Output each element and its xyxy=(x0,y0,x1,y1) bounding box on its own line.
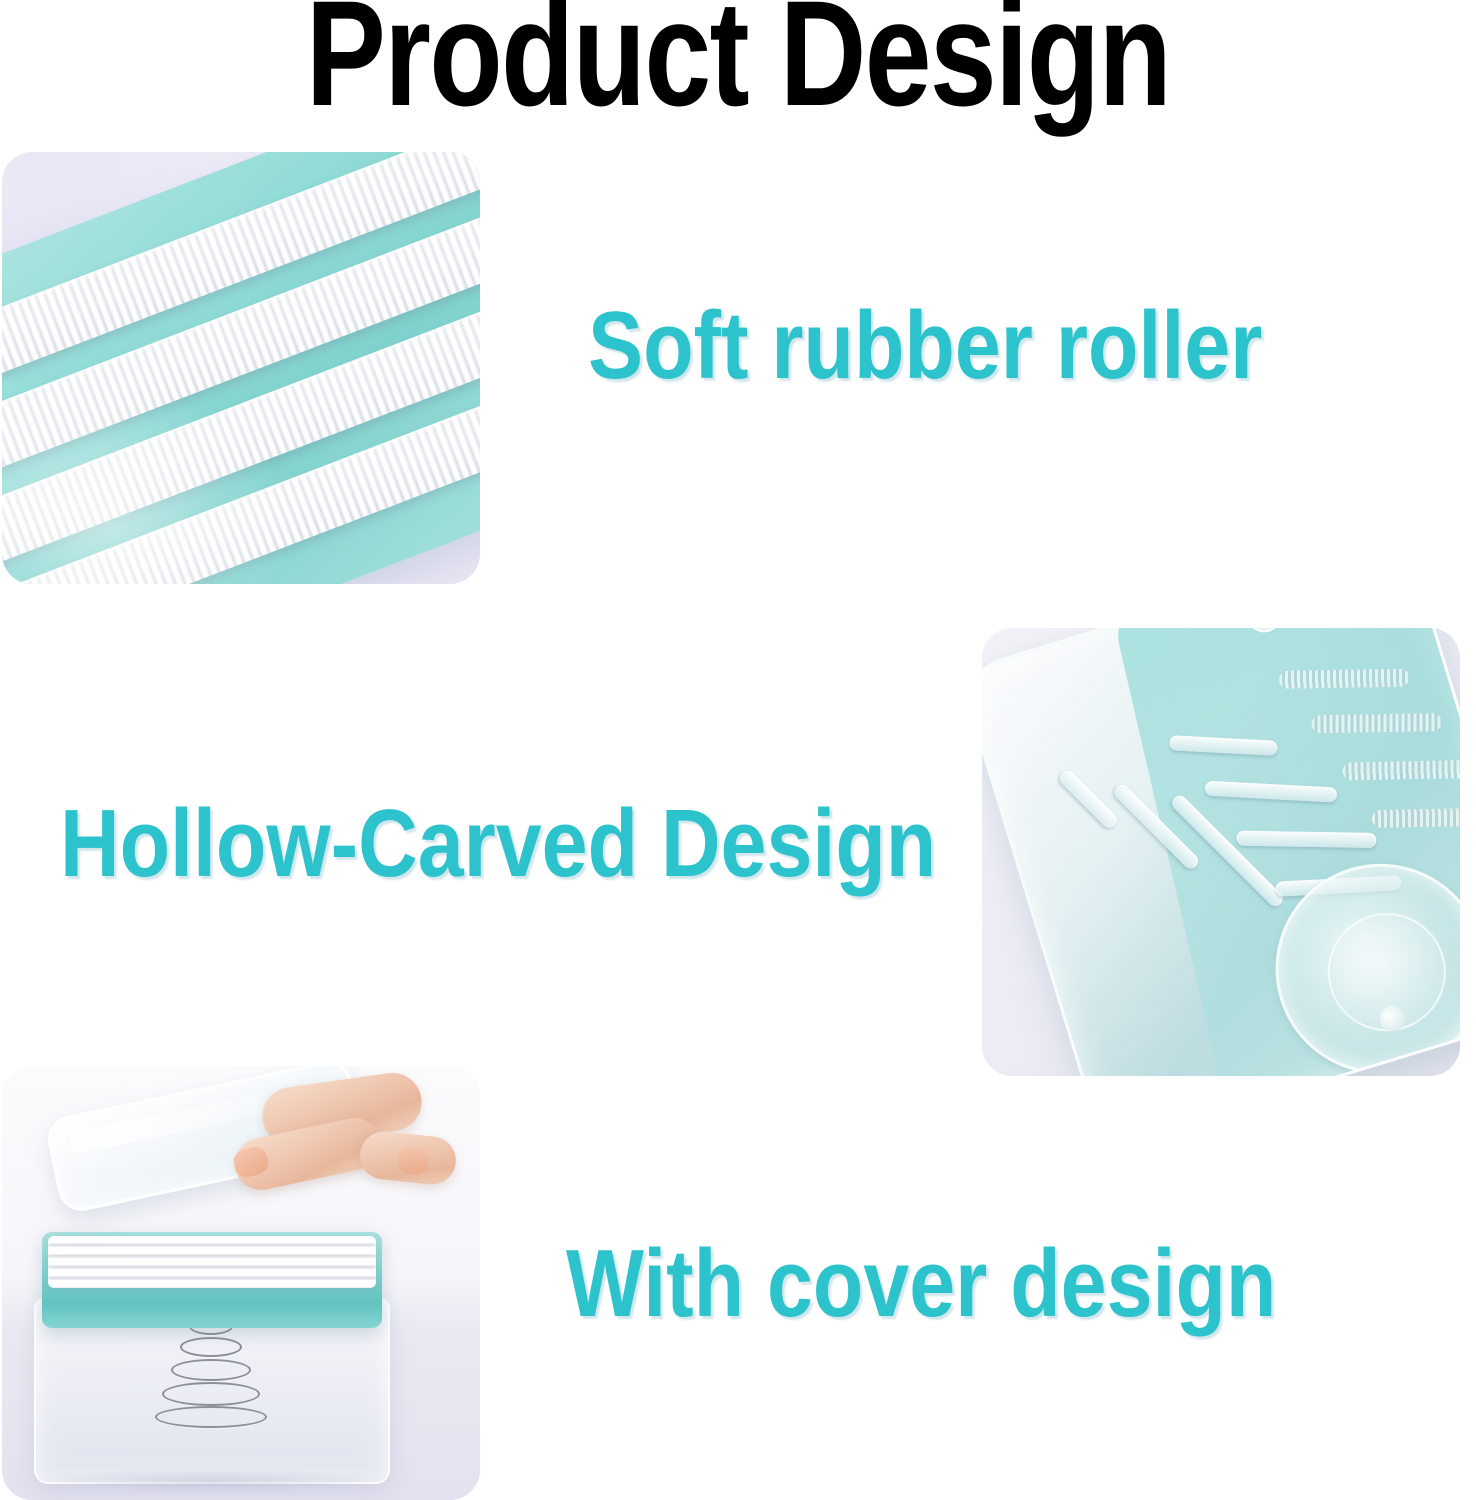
spring-coil xyxy=(180,1337,242,1357)
feature-photo-with-cover-design xyxy=(2,1066,480,1500)
product-design-infographic: Product Design Soft rubber roller Hollow… xyxy=(0,0,1476,1500)
feature-photo-soft-rubber-roller xyxy=(2,152,480,584)
carved-slot xyxy=(1236,831,1376,848)
metal-spring xyxy=(152,1318,270,1430)
spring-coil xyxy=(171,1359,251,1381)
ground-shadow xyxy=(32,1470,392,1492)
feature-caption-soft-rubber-roller: Soft rubber roller xyxy=(588,298,1262,394)
roller-through-lid xyxy=(1279,669,1409,689)
page-title: Product Design xyxy=(148,0,1329,128)
feature-caption-with-cover-design: With cover design xyxy=(566,1236,1276,1332)
feature-caption-hollow-carved-design: Hollow-Carved Design xyxy=(60,796,936,892)
roller-through-lid xyxy=(1311,713,1441,733)
spring-coil xyxy=(155,1406,267,1428)
roller-group xyxy=(2,152,480,584)
mint-roller-tray xyxy=(42,1232,382,1328)
feature-photo-hollow-carved-design xyxy=(982,628,1460,1076)
transparent-lid xyxy=(982,628,1460,1076)
hand xyxy=(210,1070,440,1240)
rubber-roller-set xyxy=(48,1236,376,1288)
spring-coil xyxy=(162,1382,260,1406)
roller-through-lid xyxy=(1343,760,1460,780)
roller-through-lid xyxy=(1372,808,1460,828)
carved-slot xyxy=(1057,768,1120,831)
